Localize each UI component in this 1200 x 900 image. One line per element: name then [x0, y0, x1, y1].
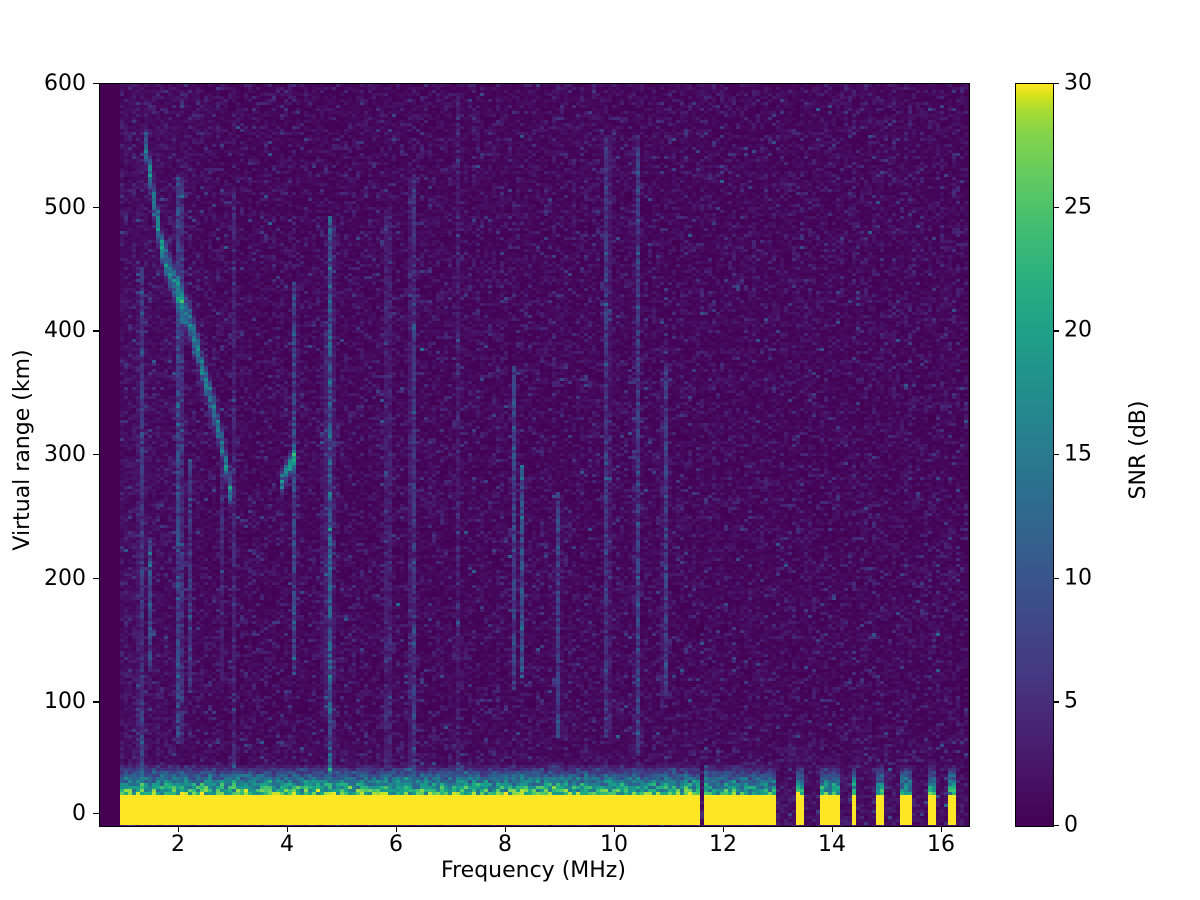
y-tick-mark — [93, 330, 99, 331]
y-tick-label: 200 — [30, 566, 86, 591]
colorbar-tick-label: 10 — [1064, 565, 1092, 590]
colorbar-tick-label: 15 — [1064, 442, 1092, 467]
colorbar-tick-mark — [1053, 701, 1059, 702]
x-tick-label: 2 — [171, 832, 185, 857]
y-tick-label: 100 — [30, 689, 86, 714]
x-tick-label: 14 — [818, 832, 846, 857]
colorbar-tick-label: 25 — [1064, 194, 1092, 219]
colorbar[interactable] — [1015, 83, 1054, 827]
colorbar-tick-label: 30 — [1064, 71, 1092, 96]
x-tick-label: 4 — [280, 832, 294, 857]
colorbar-tick-label: 5 — [1064, 689, 1078, 714]
ionogram-figure: IRF Uppsala SDR Ionosonde UP158 2026-03-… — [0, 0, 1200, 900]
colorbar-tick-label: 20 — [1064, 318, 1092, 343]
colorbar-tick-mark — [1053, 578, 1059, 579]
colorbar-tick-mark — [1053, 454, 1059, 455]
x-tick-label: 8 — [498, 832, 512, 857]
y-tick-mark — [93, 207, 99, 208]
y-tick-mark — [93, 701, 99, 702]
ionogram-plot-area[interactable] — [99, 83, 970, 827]
y-tick-mark — [93, 813, 99, 814]
y-tick-mark — [93, 454, 99, 455]
colorbar-tick-mark — [1053, 330, 1059, 331]
colorbar-label: SNR (dB) — [1126, 401, 1151, 500]
y-tick-mark — [93, 578, 99, 579]
colorbar-gradient — [1016, 84, 1053, 826]
y-tick-label: 600 — [30, 71, 86, 96]
colorbar-tick-label: 0 — [1064, 813, 1078, 838]
colorbar-tick-mark — [1053, 83, 1059, 84]
y-tick-label: 300 — [30, 442, 86, 467]
ionogram-heatmap-canvas[interactable] — [100, 84, 969, 826]
colorbar-tick-mark — [1053, 825, 1059, 826]
y-tick-label: 500 — [30, 195, 86, 220]
x-tick-label: 16 — [927, 832, 955, 857]
y-tick-mark — [93, 83, 99, 84]
x-tick-label: 12 — [709, 832, 737, 857]
x-tick-label: 6 — [389, 832, 403, 857]
y-tick-label: 0 — [30, 801, 86, 826]
x-axis-label: Frequency (MHz) — [99, 858, 968, 883]
y-tick-label: 400 — [30, 318, 86, 343]
colorbar-tick-mark — [1053, 207, 1059, 208]
x-tick-label: 10 — [600, 832, 628, 857]
